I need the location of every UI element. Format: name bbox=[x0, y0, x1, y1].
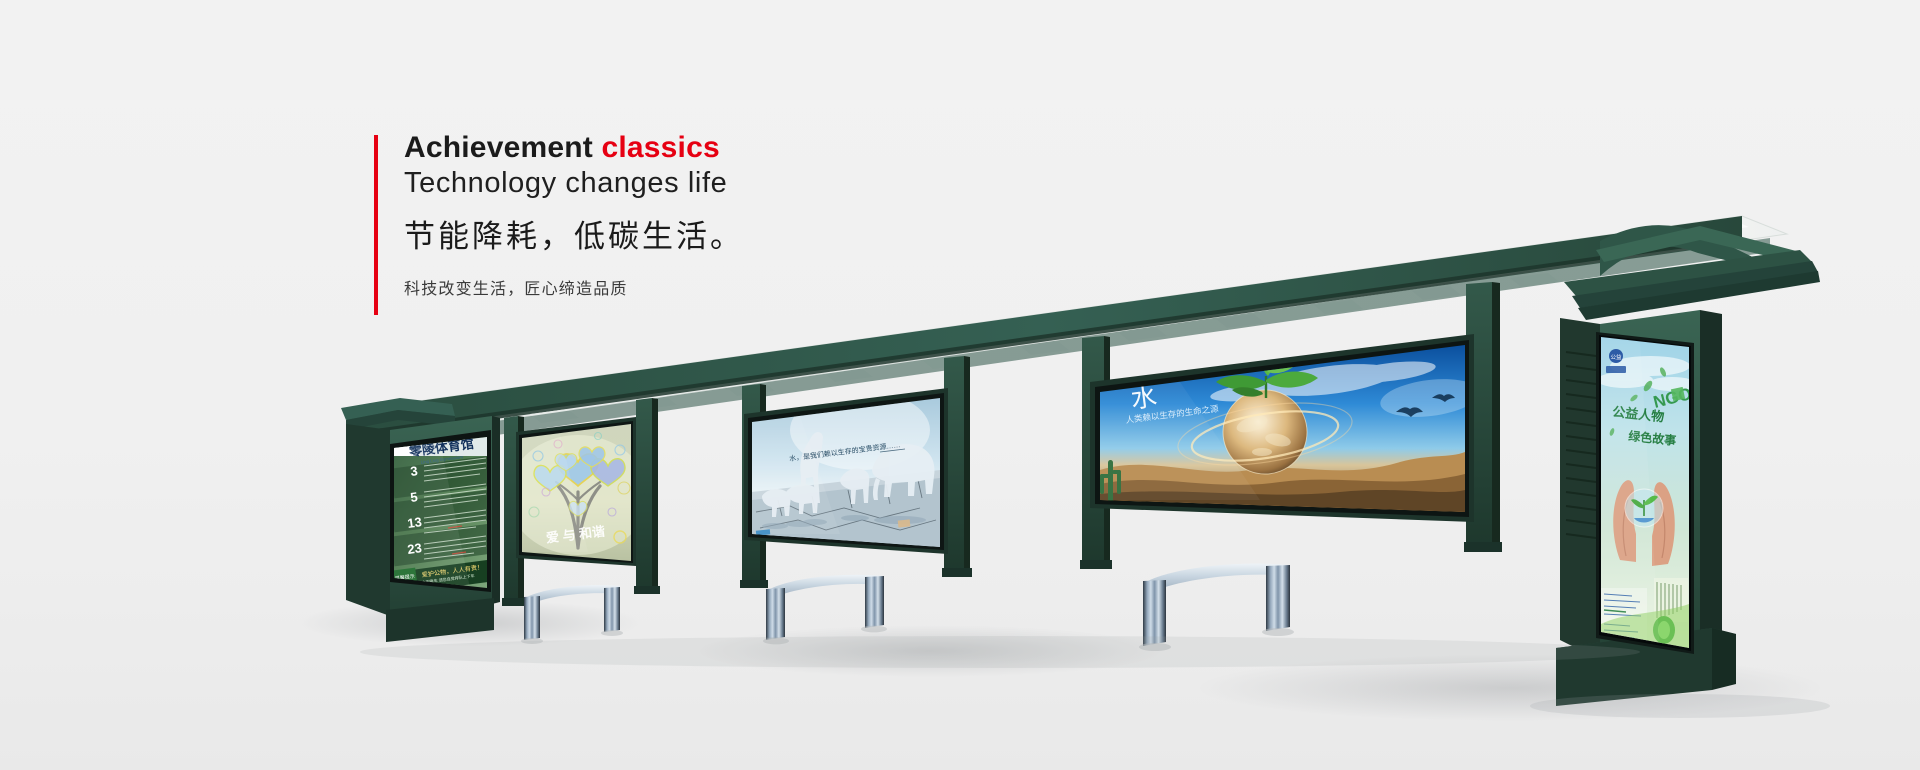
post-foot bbox=[942, 568, 972, 577]
headline-block: Achievement classics Technology changes … bbox=[374, 130, 744, 299]
post-foot bbox=[1080, 560, 1112, 569]
pavilion-base-side bbox=[1712, 628, 1736, 690]
post-foot bbox=[1464, 542, 1502, 552]
bench-1 bbox=[521, 585, 623, 644]
headline-line-english-light: Technology changes life bbox=[404, 165, 744, 202]
post-foot bbox=[740, 580, 768, 588]
headline-line-english-bold: Achievement classics bbox=[404, 130, 744, 165]
headline-line1-red: classics bbox=[601, 131, 719, 164]
bench-2 bbox=[763, 575, 887, 645]
pavilion-right-face bbox=[1700, 310, 1722, 676]
headline-line-chinese-main: 节能降耗，低碳生活。 bbox=[404, 217, 744, 257]
bus-shelter-render: 零陵体育馆 Ling Ling Gymnasium 3 5 13 23 bbox=[0, 0, 1920, 770]
left-cabinet-right-edge bbox=[492, 416, 500, 604]
shelter-post bbox=[504, 416, 518, 602]
route-board-content: 零陵体育馆 Ling Ling Gymnasium 3 5 13 23 bbox=[390, 436, 493, 595]
headline-line1-black: Achievement bbox=[404, 131, 601, 164]
scene-background: Achievement classics Technology changes … bbox=[0, 0, 1920, 770]
structure-shadow-right bbox=[1530, 694, 1830, 718]
post-foot bbox=[634, 586, 660, 594]
structure-shadow bbox=[360, 636, 1640, 668]
post-foot bbox=[502, 598, 526, 606]
headline-accent-rule bbox=[374, 135, 378, 315]
shelter-post bbox=[636, 398, 652, 590]
left-cabinet-left-face bbox=[346, 424, 390, 616]
headline-line-chinese-sub: 科技改变生活，匠心缔造品质 bbox=[404, 275, 744, 299]
